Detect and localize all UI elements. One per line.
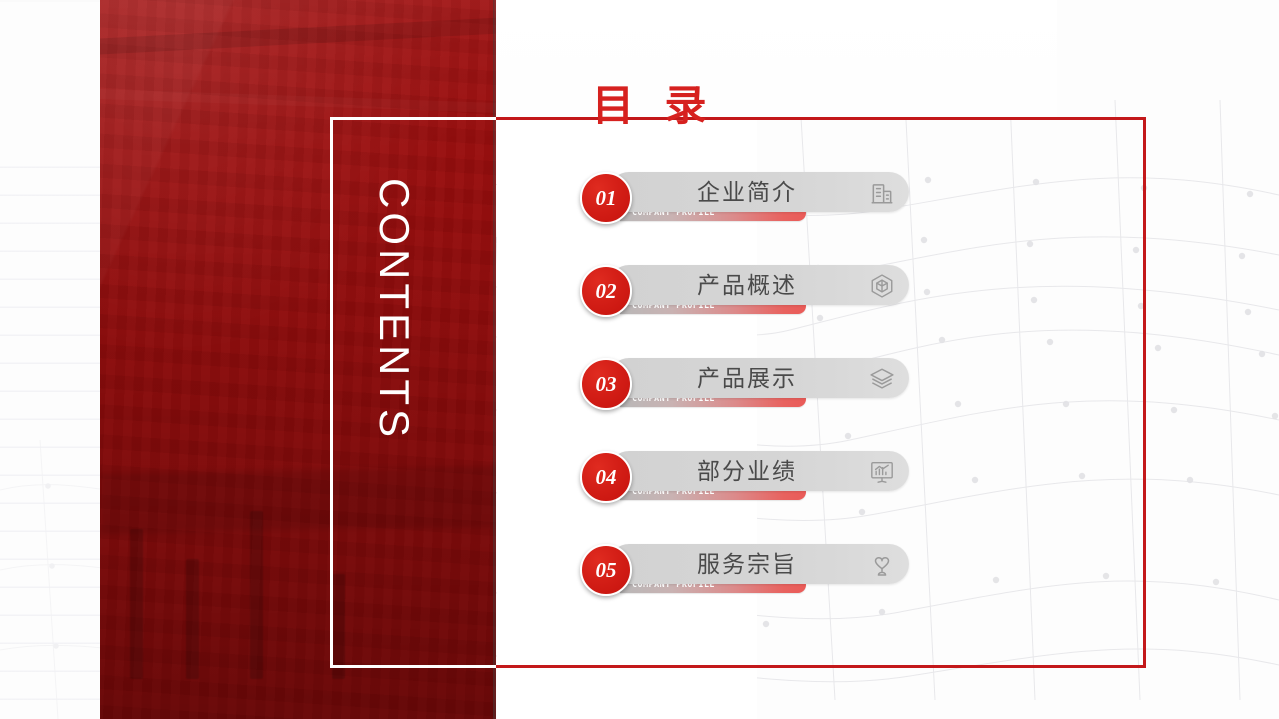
toc-number-badge: 05: [580, 544, 632, 596]
toc-title: 产品展示: [697, 362, 797, 395]
toc-number-badge: 02: [580, 265, 632, 317]
table-of-contents-list: COMPANY PROFILE 企业简介 01: [580, 172, 920, 608]
toc-bar[interactable]: 产品展示: [609, 358, 909, 398]
toc-title: 产品概述: [697, 269, 797, 302]
toc-title: 部分业绩: [697, 455, 797, 488]
toc-title: 企业简介: [697, 176, 797, 209]
building-icon: [869, 180, 895, 206]
toc-item-04[interactable]: COMPANY PROFILE 部分业绩 04: [580, 451, 920, 515]
heart-trophy-icon: [869, 552, 895, 578]
toc-number: 01: [582, 174, 630, 222]
page-top-edge: [0, 0, 100, 2]
toc-item-02[interactable]: COMPANY PROFILE 产品概述 02: [580, 265, 920, 329]
toc-item-03[interactable]: COMPANY PROFILE 产品展示 03: [580, 358, 920, 422]
chart-board-icon: [869, 459, 895, 485]
toc-title: 服务宗旨: [697, 548, 797, 581]
photo-column-edge: [493, 0, 496, 719]
toc-bar[interactable]: 产品概述: [609, 265, 909, 305]
toc-number: 02: [582, 267, 630, 315]
title-underline-rule: [730, 117, 1070, 120]
cube-hexagon-icon: [869, 273, 895, 299]
layers-icon: [869, 366, 895, 392]
toc-bar[interactable]: 部分业绩: [609, 451, 909, 491]
red-color-overlay: [100, 0, 496, 719]
hero-photo-column: [100, 0, 496, 719]
toc-item-01[interactable]: COMPANY PROFILE 企业简介 01: [580, 172, 920, 236]
toc-bar[interactable]: 企业简介: [609, 172, 909, 212]
presentation-slide: CONTENTS 目 录 COMPANY PROFILE 企业简介: [0, 0, 1279, 719]
toc-number-badge: 03: [580, 358, 632, 410]
toc-number: 03: [582, 360, 630, 408]
toc-number-badge: 04: [580, 451, 632, 503]
toc-number-badge: 01: [580, 172, 632, 224]
background-light-bands: [0, 140, 110, 719]
toc-bar[interactable]: 服务宗旨: [609, 544, 909, 584]
toc-item-05[interactable]: COMPANY PROFILE 服务宗旨 05: [580, 544, 920, 608]
toc-number: 04: [582, 453, 630, 501]
contents-vertical-label: CONTENTS: [370, 178, 418, 441]
toc-number: 05: [582, 546, 630, 594]
page-title: 目 录: [592, 86, 717, 128]
